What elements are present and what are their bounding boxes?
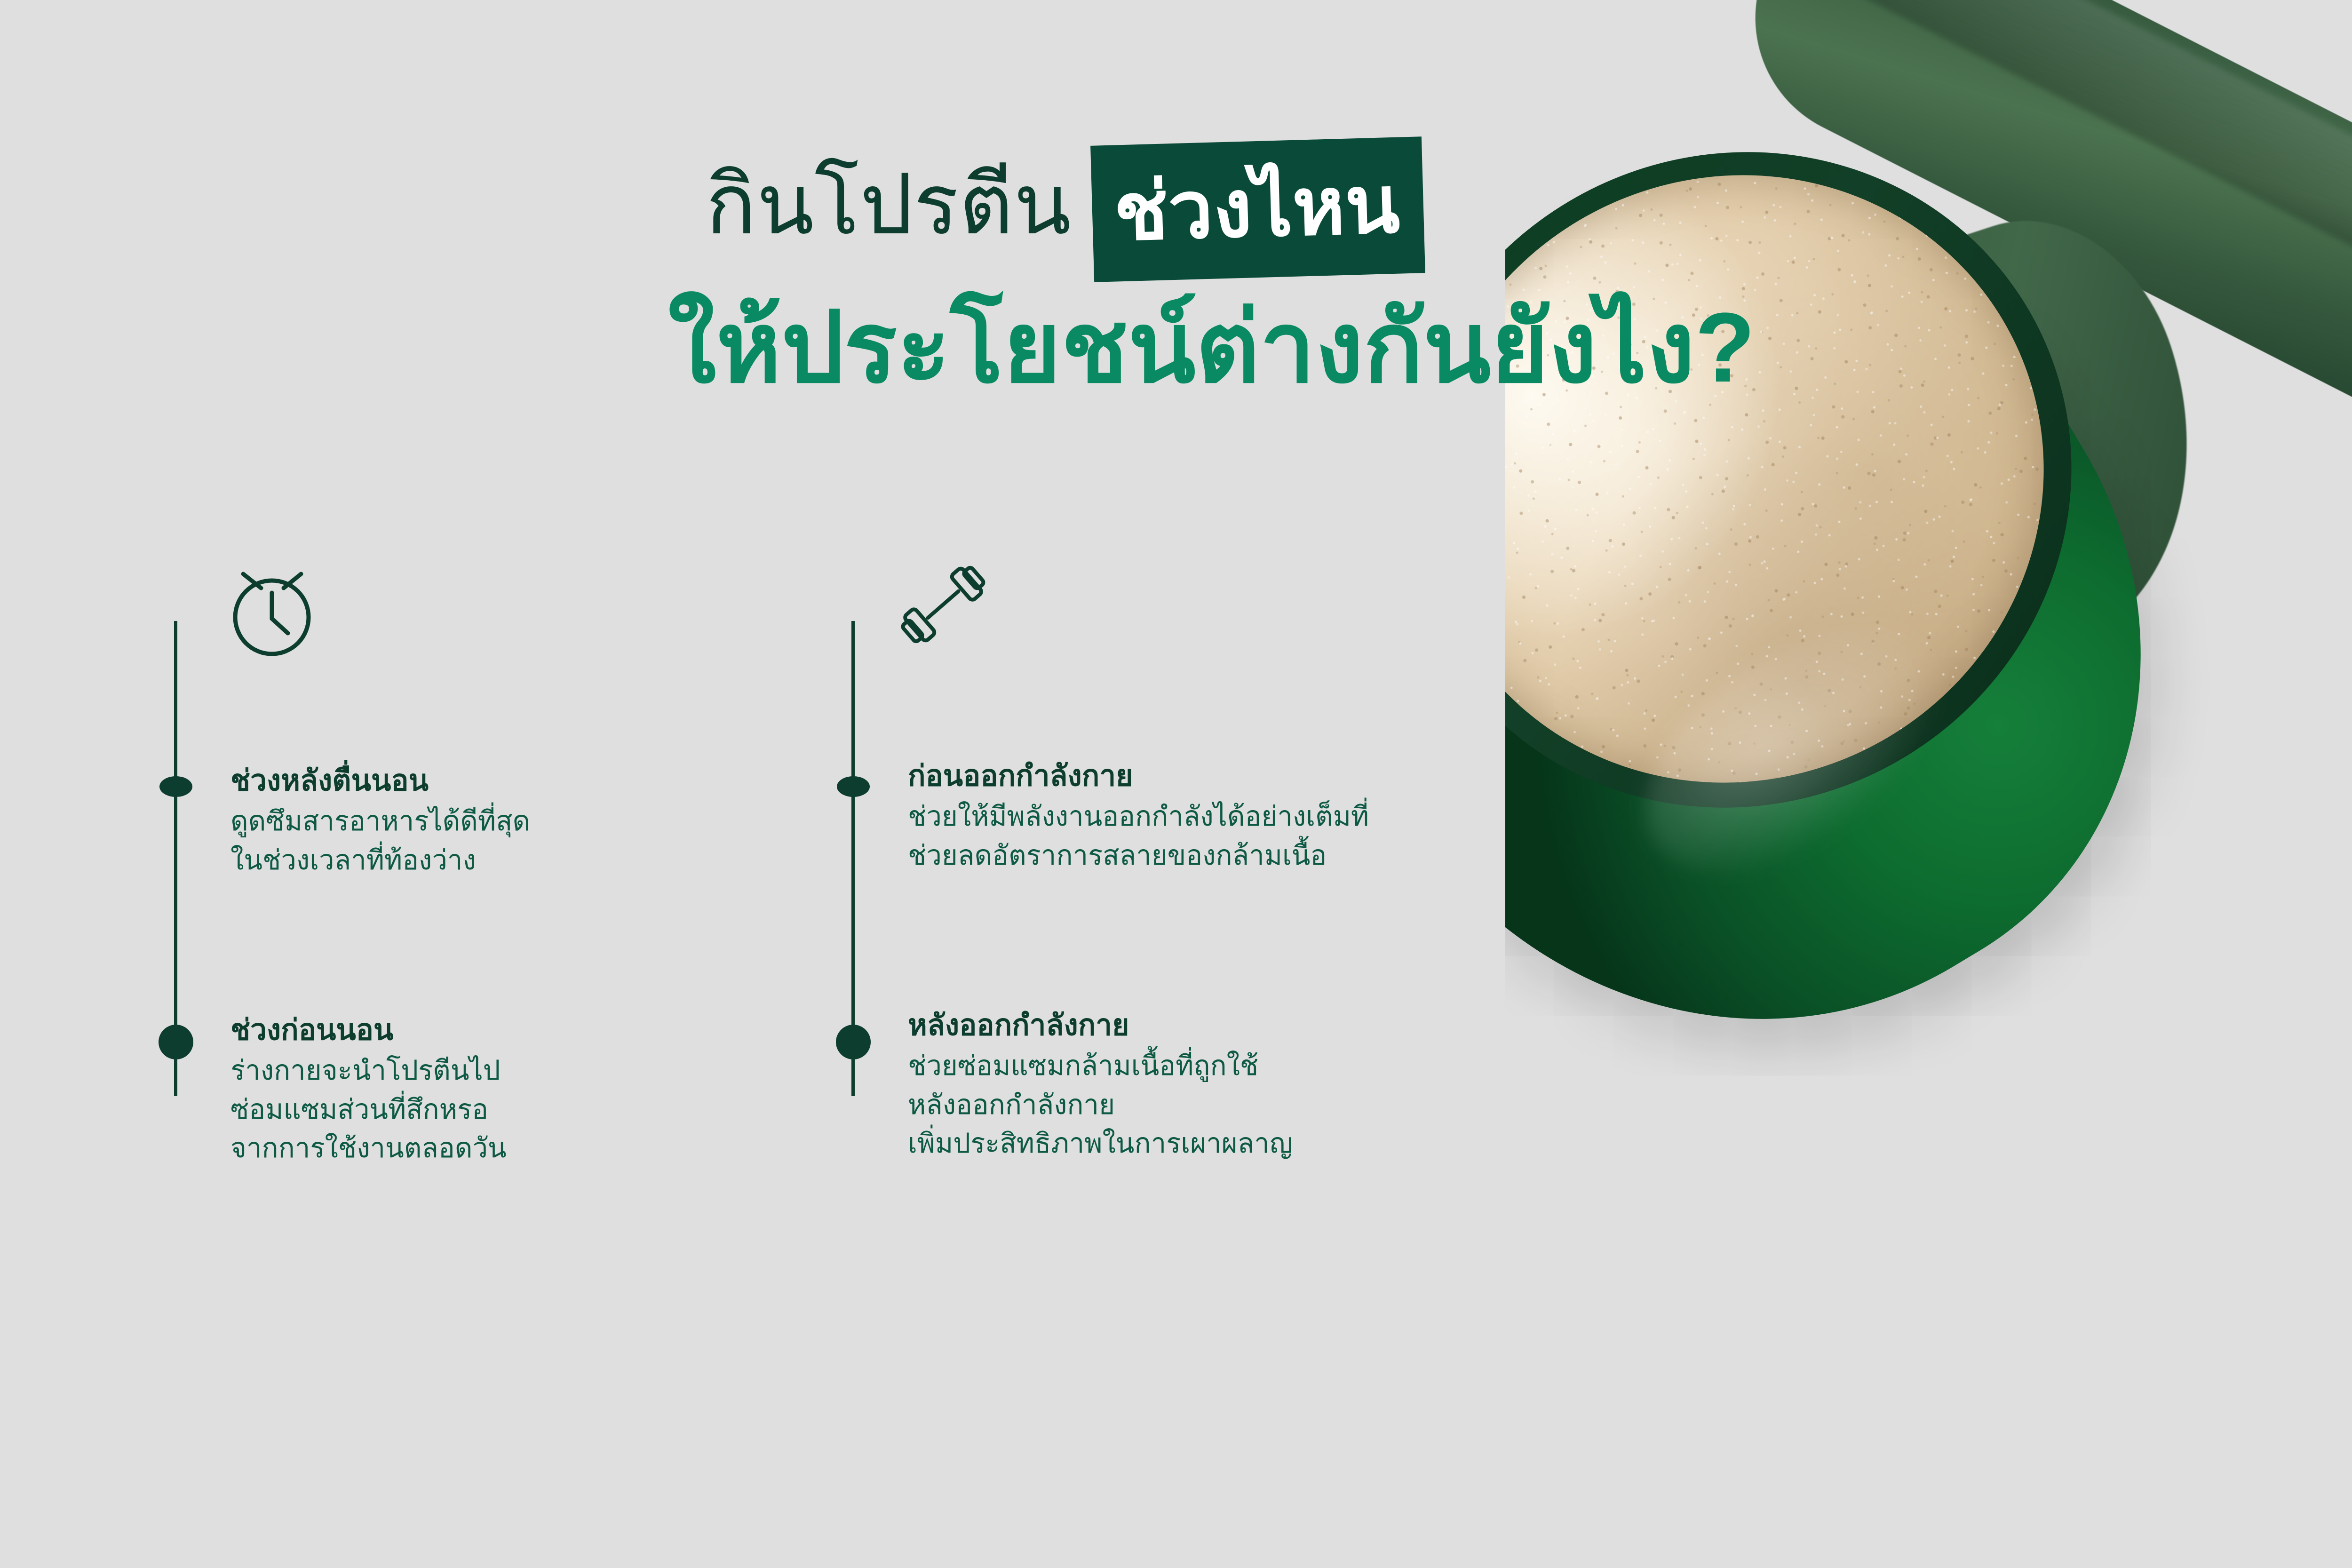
entry-body: ช่วยให้มีพลังงานออกกำลังได้อย่างเต็มที่ … [908, 797, 1491, 875]
entry-title: ก่อนออกกำลังกาย [908, 757, 1491, 795]
timeline-bullet-2 [159, 1025, 193, 1059]
entry-body: ช่วยซ่อมแซมกล้ามเนื้อที่ถูกใช้ หลังออกกำ… [908, 1047, 1491, 1163]
entry-body-line: ในช่วงเวลาที่ท้องว่าง [230, 841, 814, 880]
entry-body-line: ช่วยให้มีพลังงานออกกำลังได้อย่างเต็มที่ [908, 797, 1491, 836]
alarm-clock-icon [216, 555, 325, 663]
timeline-bullet-2 [836, 1025, 871, 1059]
scoop-handle-shading [1812, 0, 2352, 317]
scoop-gloss-highlight [1602, 571, 2010, 924]
dumbbell-icon [889, 550, 997, 659]
list-item: ก่อนออกกำลังกาย ช่วยให้มีพลังงานออกกำลัง… [908, 757, 1491, 875]
list-item: หลังออกกำลังกาย ช่วยซ่อมแซมกล้ามเนื้อที่… [908, 1007, 1491, 1163]
scoop-neck [1805, 185, 2249, 690]
entry-body-line: หลังออกกำลังกาย [908, 1086, 1491, 1124]
entry-body-line: เพิ่มประสิทธิภาพในการเผาผลาญ [908, 1124, 1491, 1163]
headline-line-1: กินโปรตีน ช่วงไหน [706, 141, 1835, 296]
list-item: ช่วงหลังตื่นนอน ดูดซึมสารอาหารได้ดีที่สุ… [230, 762, 814, 880]
entry-body-line: ช่วยซ่อมแซมกล้ามเนื้อที่ถูกใช้ [908, 1047, 1491, 1085]
headline-block: กินโปรตีน ช่วงไหน ให้ประโยชน์ต่างกันยังไ… [706, 141, 1835, 397]
headline-highlight-badge: ช่วงไหน [1090, 136, 1425, 282]
entry-title: ช่วงหลังตื่นนอน [230, 762, 814, 799]
list-item: ช่วงก่อนนอน ร่างกายจะนำโปรตีนไป ซ่อมแซมส… [230, 1011, 814, 1168]
entry-body-line: ซ่อมแซมส่วนที่สึกหรอ [230, 1090, 814, 1129]
entry-title: หลังออกกำลังกาย [908, 1007, 1491, 1044]
headline-plain-text: กินโปรตีน [706, 141, 1072, 247]
entry-body-line: ช่วยลดอัตราการสลายของกล้ามเนื้อ [908, 836, 1491, 875]
entry-body-line: ร่างกายจะนำโปรตีนไป [230, 1051, 814, 1090]
timeline-bullet-1 [837, 776, 870, 797]
entry-title: ช่วงก่อนนอน [230, 1011, 814, 1049]
entry-body-line: จากการใช้งานตลอดวัน [230, 1129, 814, 1168]
entry-body: ดูดซึมสารอาหารได้ดีที่สุด ในช่วงเวลาที่ท… [230, 802, 814, 880]
timeline-bullet-1 [159, 776, 192, 797]
entry-body: ร่างกายจะนำโปรตีนไป ซ่อมแซมส่วนที่สึกหรอ… [230, 1051, 814, 1168]
entry-body-line: ดูดซึมสารอาหารได้ดีที่สุด [230, 802, 814, 841]
headline-line-2: ให้ประโยชน์ต่างกันยังไง? [668, 298, 1835, 397]
